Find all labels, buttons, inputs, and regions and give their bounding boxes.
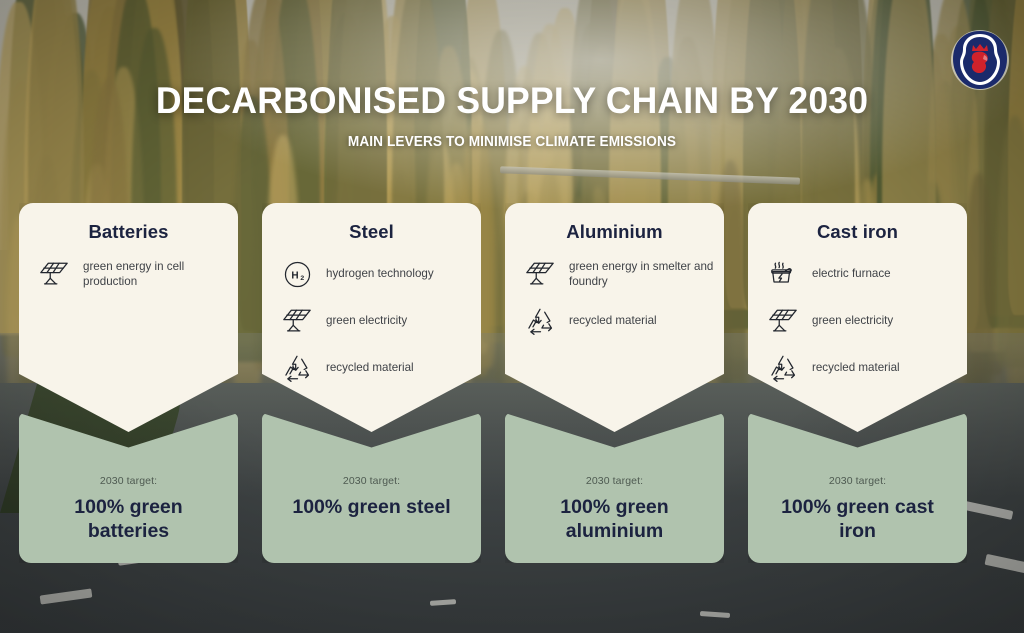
lever-item: electric furnace xyxy=(766,257,957,291)
target-value: 100% green steel xyxy=(262,496,481,520)
lever-label: hydrogen technology xyxy=(326,266,434,281)
lever-item: recycled material xyxy=(766,351,957,385)
material-column: Aluminium green energy in smelter and fo… xyxy=(505,203,724,563)
electric-furnace-icon xyxy=(766,258,800,290)
lever-item: green energy in smelter and foundry xyxy=(523,257,714,291)
recycling-icon xyxy=(280,352,314,384)
target-panel: 2030 target:100% green cast iron xyxy=(748,413,967,563)
target-value: 100% green cast iron xyxy=(748,496,967,544)
target-panel: 2030 target:100% green steel xyxy=(262,413,481,563)
svg-text:2: 2 xyxy=(300,275,304,282)
material-title: Cast iron xyxy=(748,203,967,243)
lever-item: green electricity xyxy=(766,304,957,338)
solar-panel-icon xyxy=(523,258,557,290)
target-value: 100% green batteries xyxy=(19,496,238,544)
lever-item: green energy in cell production xyxy=(37,257,228,291)
material-column: Cast iron electric furnace green electri… xyxy=(748,203,967,563)
material-card: Aluminium green energy in smelter and fo… xyxy=(505,203,724,432)
lever-label: recycled material xyxy=(326,360,414,375)
material-columns: Batteries green energy in cell productio… xyxy=(19,203,1005,563)
lever-list: H 2 hydrogen technology green electricit… xyxy=(262,257,481,385)
lever-list: electric furnace green electricity recyc… xyxy=(748,257,967,385)
material-column: Batteries green energy in cell productio… xyxy=(19,203,238,563)
lever-label: green energy in smelter and foundry xyxy=(569,259,714,290)
lever-label: green electricity xyxy=(812,313,893,328)
lever-item: H 2 hydrogen technology xyxy=(280,257,471,291)
solar-panel-icon xyxy=(280,305,314,337)
lever-list: green energy in smelter and foundry recy… xyxy=(505,257,724,338)
hydrogen-h2-icon: H 2 xyxy=(280,258,314,290)
lever-label: green electricity xyxy=(326,313,407,328)
solar-panel-icon xyxy=(766,305,800,337)
lever-label: electric furnace xyxy=(812,266,891,281)
material-title: Steel xyxy=(262,203,481,243)
lever-label: recycled material xyxy=(812,360,900,375)
lever-list: green energy in cell production xyxy=(19,257,238,291)
target-panel: 2030 target:100% green batteries xyxy=(19,413,238,563)
lever-item: recycled material xyxy=(280,351,471,385)
recycling-icon xyxy=(766,352,800,384)
material-column: Steel H 2 hydrogen technology green elec… xyxy=(262,203,481,563)
lever-label: recycled material xyxy=(569,313,657,328)
material-card: Cast iron electric furnace green electri… xyxy=(748,203,967,432)
scania-griffin-logo xyxy=(949,28,1011,92)
material-title: Batteries xyxy=(19,203,238,243)
recycling-icon xyxy=(523,305,557,337)
material-card: Steel H 2 hydrogen technology green elec… xyxy=(262,203,481,432)
lever-item: recycled material xyxy=(523,304,714,338)
material-title: Aluminium xyxy=(505,203,724,243)
target-value: 100% green aluminium xyxy=(505,496,724,544)
header: DECARBONISED SUPPLY CHAIN BY 2030 MAIN L… xyxy=(0,82,1024,150)
page-title: DECARBONISED SUPPLY CHAIN BY 2030 xyxy=(20,82,1003,121)
lever-label: green energy in cell production xyxy=(83,259,228,290)
target-panel: 2030 target:100% green aluminium xyxy=(505,413,724,563)
svg-text:H: H xyxy=(291,270,298,281)
lever-item: green electricity xyxy=(280,304,471,338)
material-card: Batteries green energy in cell productio… xyxy=(19,203,238,432)
solar-panel-icon xyxy=(37,258,71,290)
page-subtitle: MAIN LEVERS TO MINIMISE CLIMATE EMISSION… xyxy=(31,134,994,150)
